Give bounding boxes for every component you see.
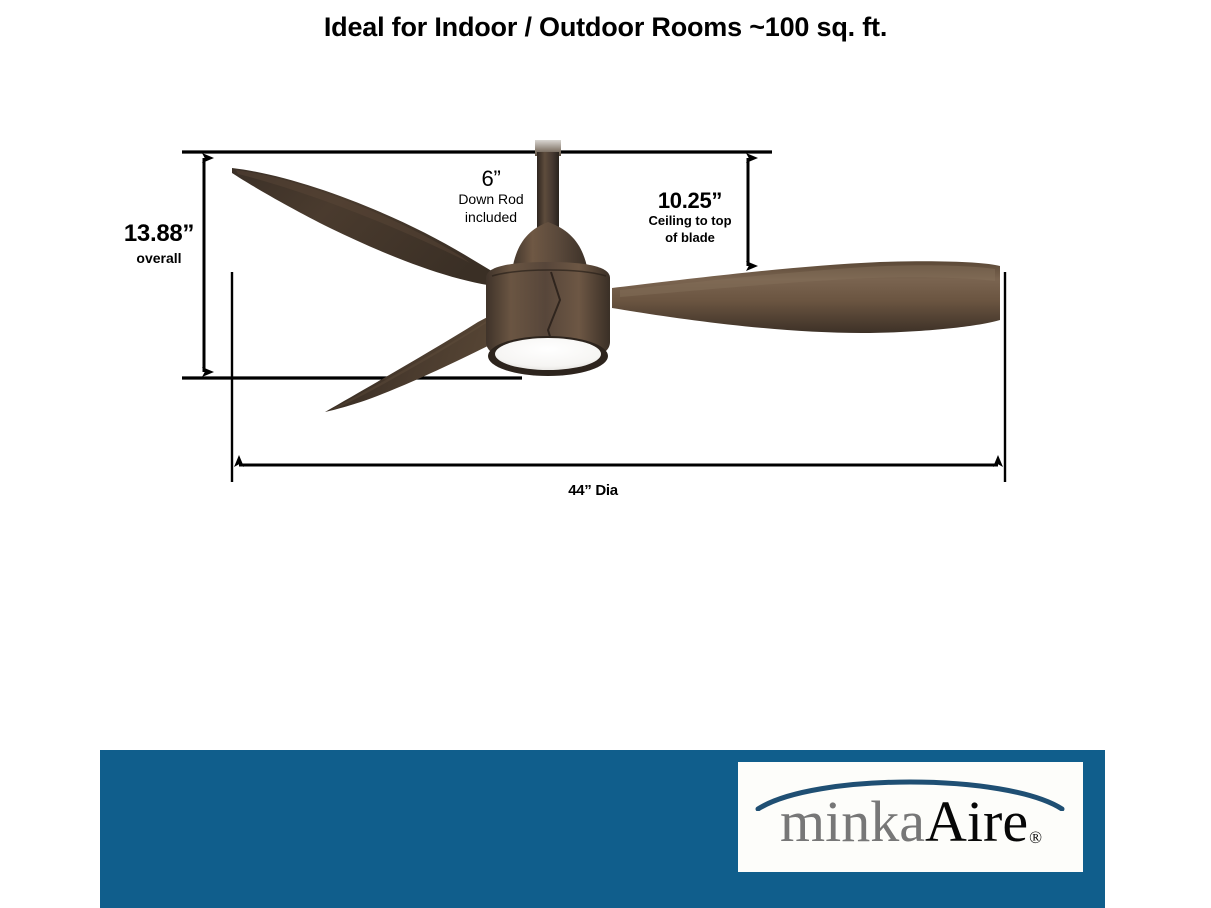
brand-wordmark: minkaAire® [746,793,1076,851]
ceiling-fan-illustration [232,140,1000,412]
brand-logo-plate: minkaAire® [738,762,1083,872]
dimension-value-down-rod: 6” [432,166,550,191]
dimension-caption-ceiling-to-blade-line1: Ceiling to top [616,213,764,229]
registered-trademark-icon: ® [1029,828,1042,847]
brand-word-minka: minka [780,789,925,854]
brand-word-aire: Aire [925,789,1028,854]
dimension-label-overall-height: 13.88” overall [104,220,214,266]
light-kit-lens [495,338,601,370]
fan-diagram: 13.88” overall 6” Down Rod included 10.2… [0,0,1211,740]
dimension-caption-ceiling-to-blade-line2: of blade [616,230,764,246]
dimension-caption-down-rod-line1: Down Rod [432,191,550,209]
dimension-label-ceiling-to-blade: 10.25” Ceiling to top of blade [616,188,764,246]
dimension-value-ceiling-to-blade: 10.25” [616,188,764,213]
brand-banner: minkaAire® [100,750,1105,908]
dimension-caption-down-rod-line2: included [432,209,550,227]
dimension-label-blade-span: 44” Dia [518,482,668,499]
dimension-value-overall-height: 13.88” [104,220,214,248]
brand-logo: minkaAire® [746,767,1076,867]
spec-sheet: Ideal for Indoor / Outdoor Rooms ~100 sq… [0,0,1211,908]
dimension-caption-overall-height: overall [104,250,214,266]
dimension-label-down-rod: 6” Down Rod included [432,166,550,226]
fan-diagram-svg [0,0,1211,740]
dimension-value-blade-span: 44” Dia [518,482,668,499]
